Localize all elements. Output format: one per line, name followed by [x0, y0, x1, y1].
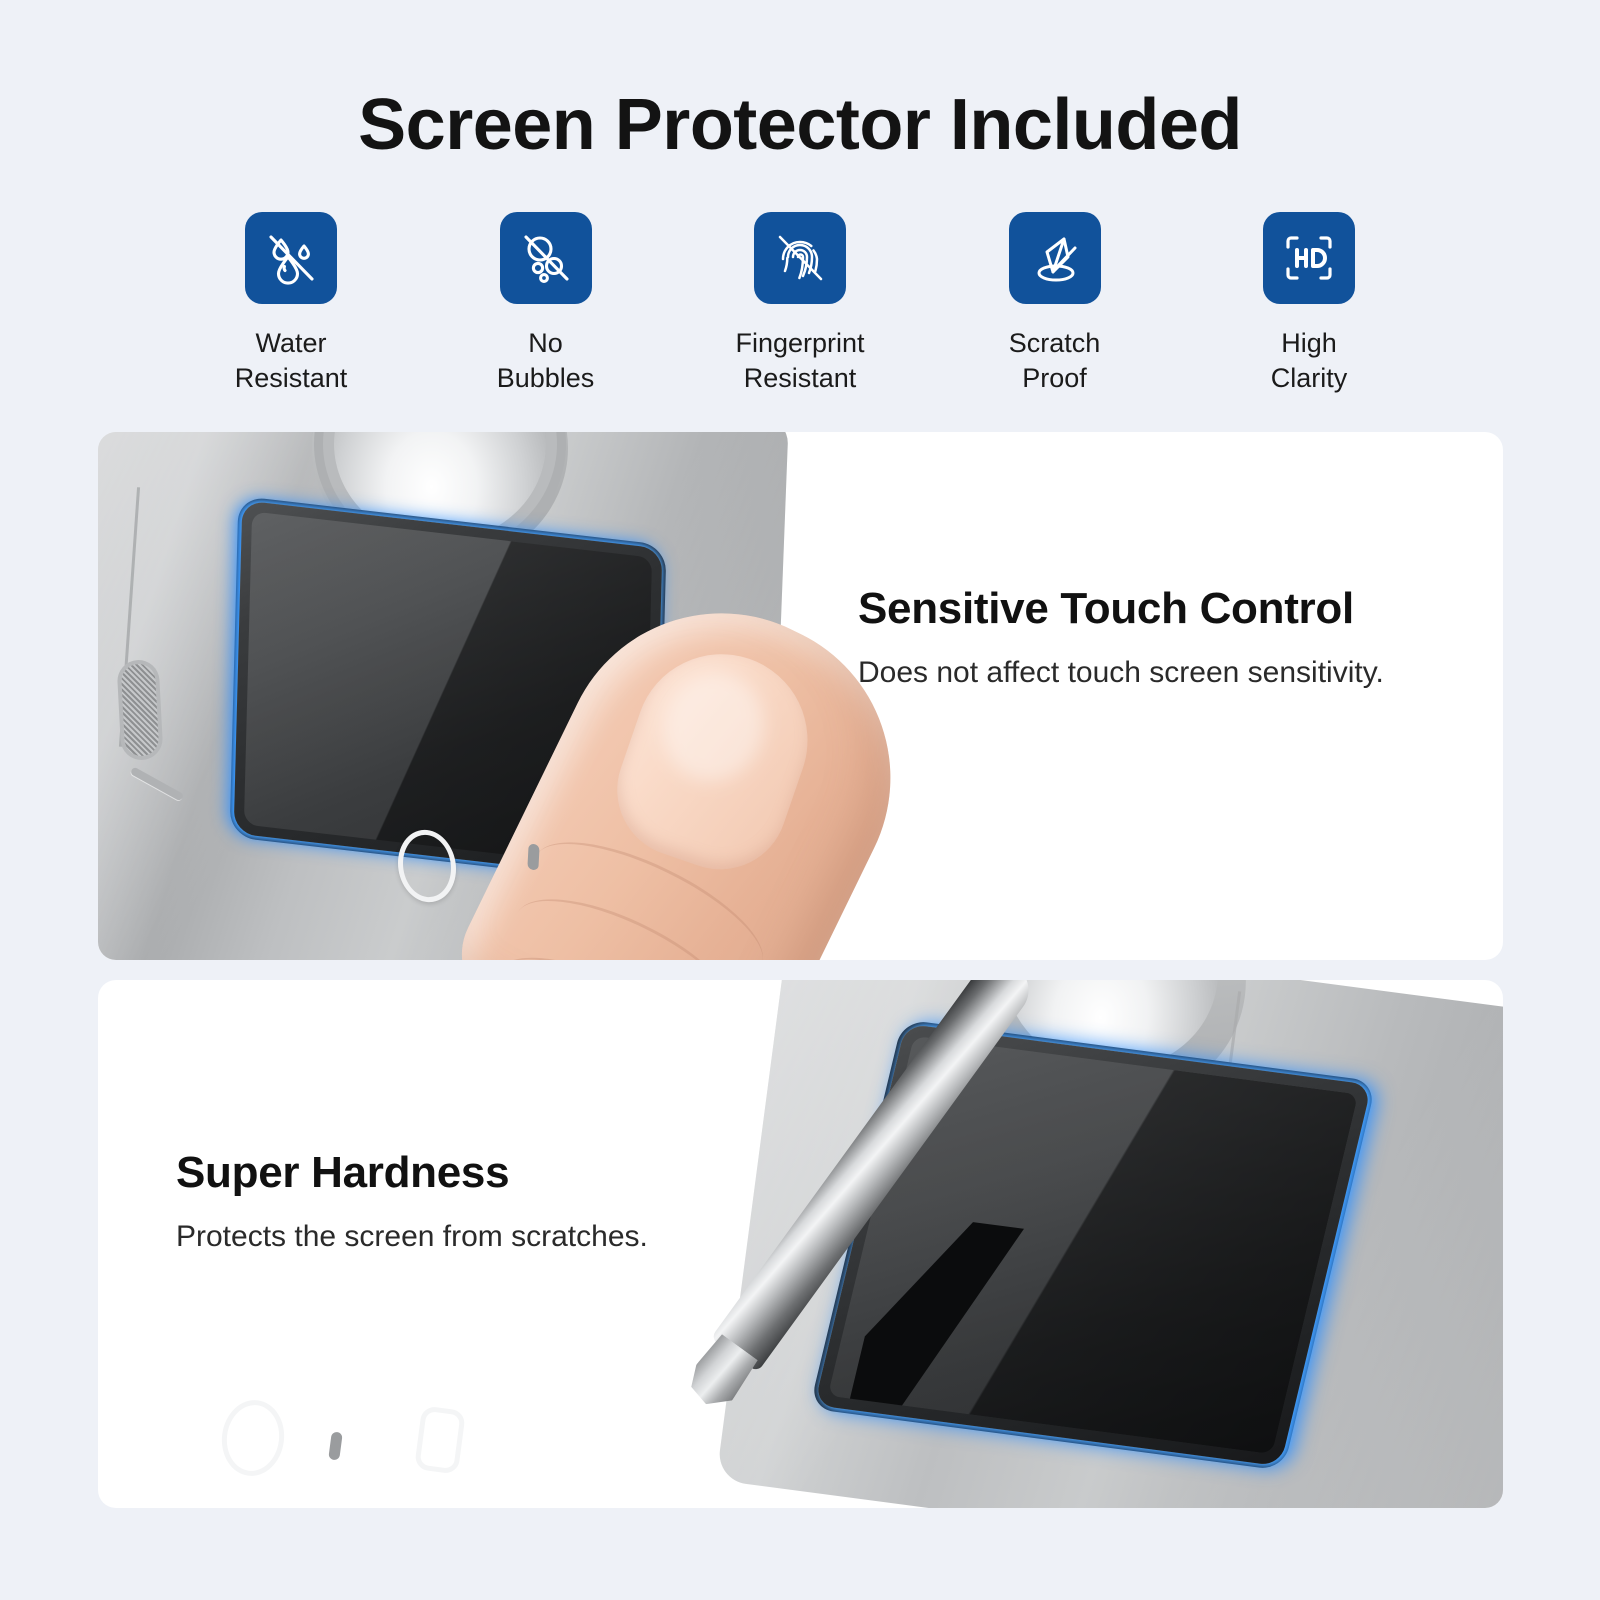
touch-demo-photo [98, 432, 1503, 960]
feature-panel-sensitive-touch: Sensitive Touch Control Does not affect … [98, 432, 1503, 960]
shutter-button [414, 1405, 466, 1474]
page-title: Screen Protector Included [0, 84, 1600, 166]
microphone-slot [527, 843, 539, 871]
panel-subtitle: Protects the screen from scratches. [176, 1220, 776, 1254]
touch-text-block: Sensitive Touch Control Does not affect … [858, 584, 1458, 690]
water-drop-slash-icon [245, 212, 337, 304]
fingernail [599, 631, 831, 887]
feature-water-resistant: Water Resistant [200, 212, 382, 396]
speaker-grille-icon [121, 663, 160, 757]
panel-title: Super Hardness [176, 1148, 776, 1198]
hardness-text-block: Super Hardness Protects the screen from … [176, 1148, 776, 1254]
feature-label: Water Resistant [235, 326, 348, 396]
feature-label: Scratch Proof [1009, 326, 1101, 396]
feature-label: No Bubbles [497, 326, 595, 396]
blade-scratch-icon [1009, 212, 1101, 304]
product-feature-page: Screen Protector Included Water Resistan… [0, 0, 1600, 1600]
power-button [217, 1396, 288, 1479]
feature-no-bubbles: No Bubbles [455, 212, 637, 396]
fingerprint-slash-icon [754, 212, 846, 304]
feature-high-clarity: High Clarity [1218, 212, 1400, 396]
hd-frame-icon [1263, 212, 1355, 304]
feature-label: Fingerprint Resistant [735, 326, 864, 396]
feature-panel-super-hardness: Super Hardness Protects the screen from … [98, 980, 1503, 1508]
panel-subtitle: Does not affect touch screen sensitivity… [858, 656, 1458, 690]
bubbles-slash-icon [500, 212, 592, 304]
feature-icon-row: Water Resistant No Bubbles [200, 212, 1400, 396]
feature-label: High Clarity [1271, 326, 1348, 396]
feature-scratch-proof: Scratch Proof [964, 212, 1146, 396]
panel-title: Sensitive Touch Control [858, 584, 1458, 634]
feature-fingerprint-resistant: Fingerprint Resistant [709, 212, 891, 396]
microphone-slot [328, 1431, 343, 1460]
